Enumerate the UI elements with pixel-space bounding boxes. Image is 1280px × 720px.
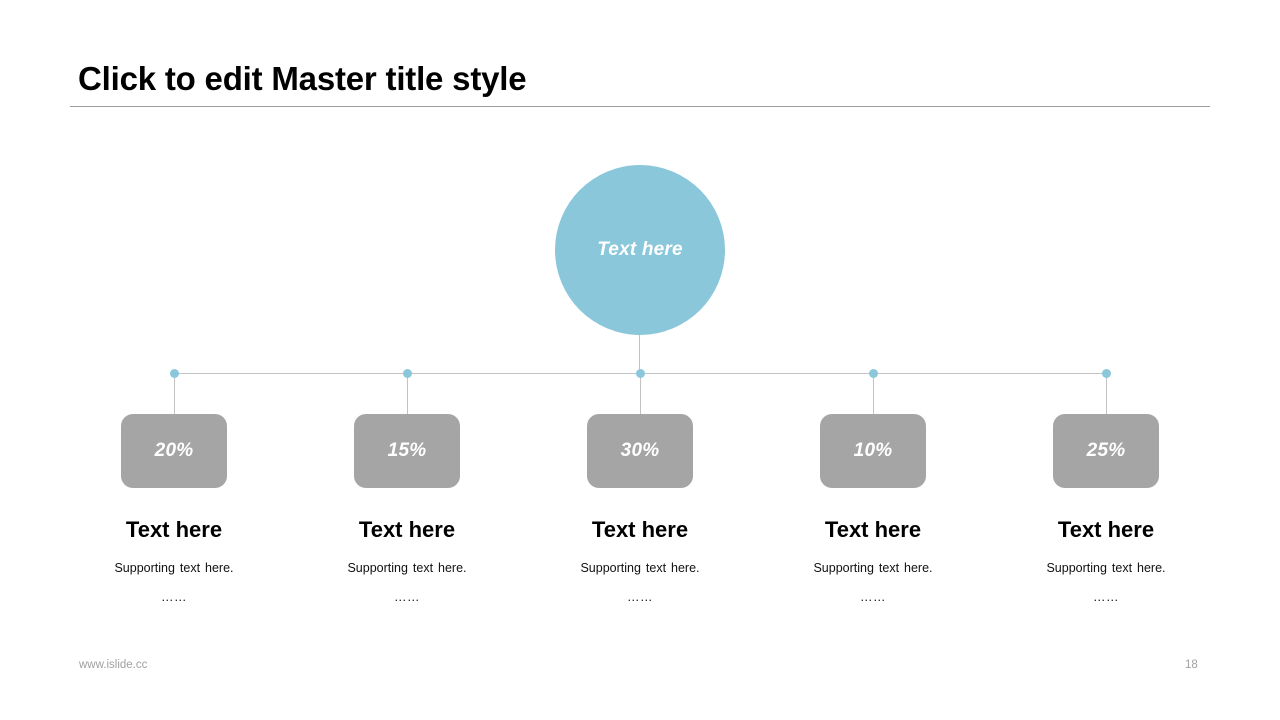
column-4: 10%Text hereSupporting text here.…… bbox=[768, 414, 978, 603]
percent-label-2: 15% bbox=[388, 440, 427, 462]
column-heading-2[interactable]: Text here bbox=[359, 519, 455, 541]
page-title[interactable]: Click to edit Master title style bbox=[78, 60, 526, 98]
node-dot-4[interactable] bbox=[869, 369, 878, 378]
drop-line-1 bbox=[174, 373, 175, 414]
column-supporting-text-4[interactable]: Supporting text here. bbox=[813, 562, 932, 575]
hub-circle[interactable]: Text here bbox=[555, 165, 725, 335]
drop-line-3 bbox=[640, 373, 641, 414]
percent-box-4[interactable]: 10% bbox=[820, 414, 926, 488]
column-supporting-text-3[interactable]: Supporting text here. bbox=[580, 562, 699, 575]
column-ellipsis-2[interactable]: …… bbox=[394, 591, 420, 604]
node-dot-2[interactable] bbox=[403, 369, 412, 378]
node-dot-3[interactable] bbox=[636, 369, 645, 378]
column-ellipsis-3[interactable]: …… bbox=[627, 591, 653, 604]
drop-line-2 bbox=[407, 373, 408, 414]
column-5: 25%Text hereSupporting text here.…… bbox=[1001, 414, 1211, 603]
column-supporting-text-1[interactable]: Supporting text here. bbox=[114, 562, 233, 575]
title-divider bbox=[70, 106, 1210, 107]
column-ellipsis-1[interactable]: …… bbox=[161, 591, 187, 604]
footer-url[interactable]: www.islide.cc bbox=[79, 659, 147, 671]
footer-page-number: 18 bbox=[1185, 659, 1198, 671]
percent-box-5[interactable]: 25% bbox=[1053, 414, 1159, 488]
column-heading-4[interactable]: Text here bbox=[825, 519, 921, 541]
node-dot-1[interactable] bbox=[170, 369, 179, 378]
node-dot-5[interactable] bbox=[1102, 369, 1111, 378]
percent-box-3[interactable]: 30% bbox=[587, 414, 693, 488]
column-1: 20%Text hereSupporting text here.…… bbox=[69, 414, 279, 603]
percent-label-1: 20% bbox=[155, 440, 194, 462]
column-3: 30%Text hereSupporting text here.…… bbox=[535, 414, 745, 603]
hub-label: Text here bbox=[597, 239, 683, 261]
percent-label-3: 30% bbox=[621, 440, 660, 462]
column-supporting-text-2[interactable]: Supporting text here. bbox=[347, 562, 466, 575]
column-ellipsis-5[interactable]: …… bbox=[1093, 591, 1119, 604]
column-heading-3[interactable]: Text here bbox=[592, 519, 688, 541]
drop-line-5 bbox=[1106, 373, 1107, 414]
column-heading-5[interactable]: Text here bbox=[1058, 519, 1154, 541]
drop-line-4 bbox=[873, 373, 874, 414]
percent-box-1[interactable]: 20% bbox=[121, 414, 227, 488]
percent-box-2[interactable]: 15% bbox=[354, 414, 460, 488]
column-supporting-text-5[interactable]: Supporting text here. bbox=[1046, 562, 1165, 575]
slide-canvas: { "slide": { "title": "Click to edit Mas… bbox=[0, 0, 1280, 720]
percent-label-5: 25% bbox=[1087, 440, 1126, 462]
column-ellipsis-4[interactable]: …… bbox=[860, 591, 886, 604]
percent-label-4: 10% bbox=[854, 440, 893, 462]
column-heading-1[interactable]: Text here bbox=[126, 519, 222, 541]
column-2: 15%Text hereSupporting text here.…… bbox=[302, 414, 512, 603]
